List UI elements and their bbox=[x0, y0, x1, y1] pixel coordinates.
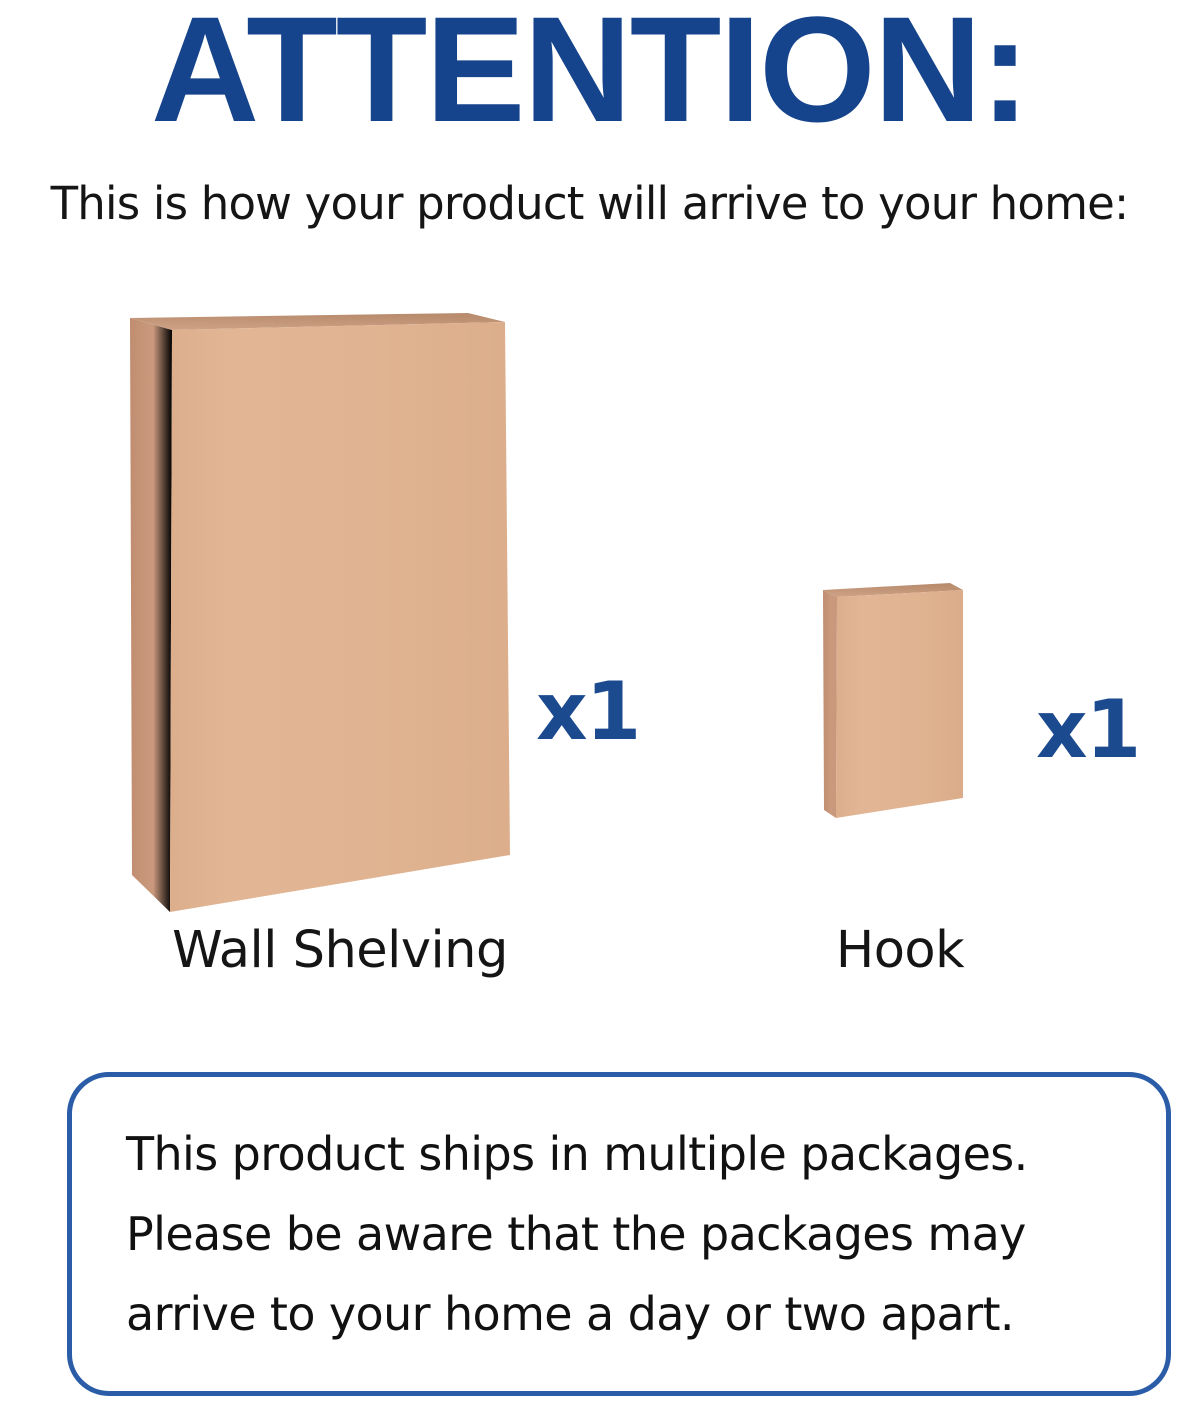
package-item-wall-shelving bbox=[100, 295, 530, 935]
notice-line-3: arrive to your home a day or two apart. bbox=[126, 1274, 1014, 1354]
quantity-label-wall-shelving: x1 bbox=[536, 672, 639, 752]
notice-line-1: This product ships in multiple packages. bbox=[126, 1114, 1028, 1194]
box-front-face bbox=[836, 590, 963, 818]
cardboard-box-icon bbox=[100, 295, 530, 935]
box-side-face bbox=[130, 318, 172, 912]
package-caption-hook: Hook bbox=[760, 922, 1040, 980]
quantity-label-hook: x1 bbox=[1036, 690, 1139, 770]
box-side-face bbox=[823, 590, 837, 818]
shipping-notice-callout: This product ships in multiple packages.… bbox=[67, 1072, 1171, 1396]
page-title: ATTENTION: bbox=[0, 0, 1179, 144]
cardboard-box-icon bbox=[800, 570, 990, 840]
package-item-hook bbox=[800, 570, 990, 840]
box-front-face bbox=[170, 322, 510, 912]
page-subtitle: This is how your product will arrive to … bbox=[0, 178, 1179, 230]
package-caption-wall-shelving: Wall Shelving bbox=[105, 922, 575, 980]
notice-line-2: Please be aware that the packages may bbox=[126, 1194, 1026, 1274]
